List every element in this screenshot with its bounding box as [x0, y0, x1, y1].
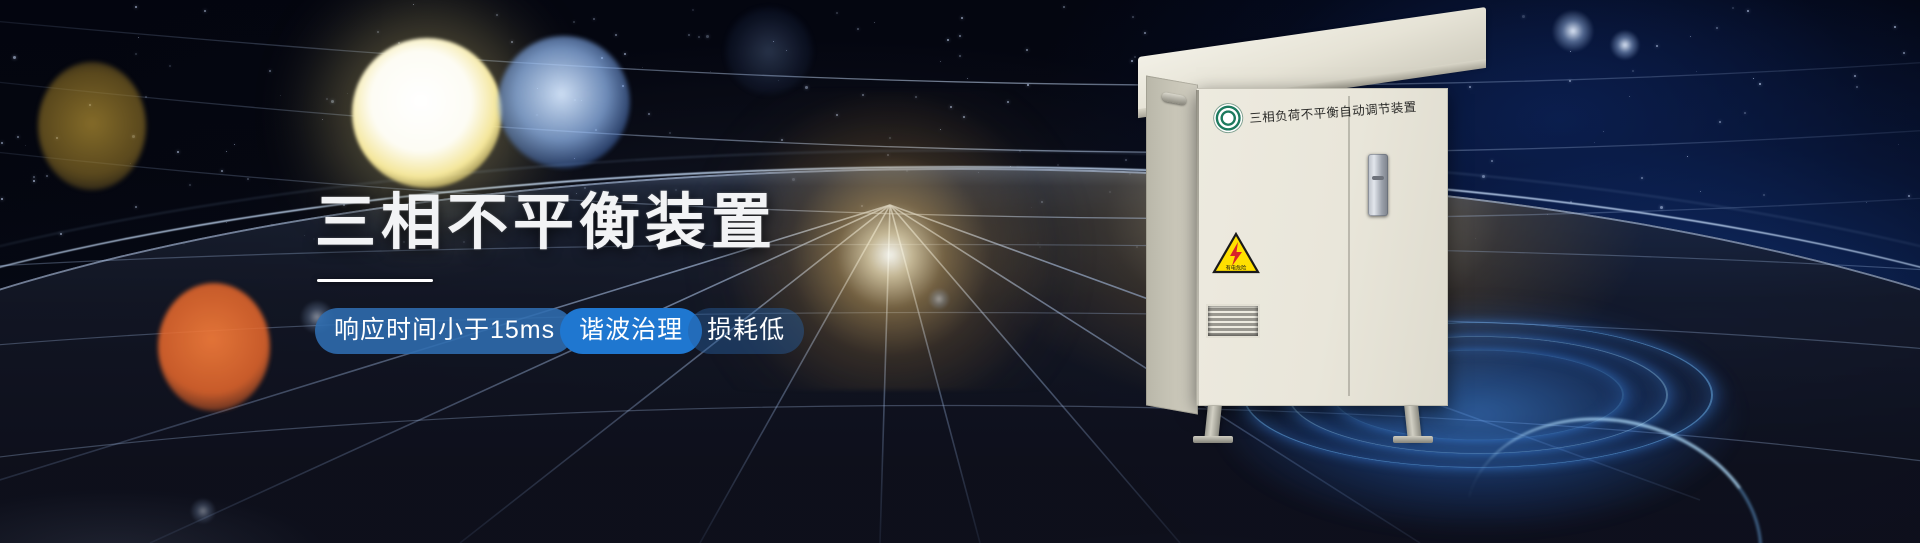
feature-tag-response-time[interactable]: 响应时间小于15ms — [315, 308, 574, 354]
cabinet-foot-left — [1193, 436, 1233, 443]
three-phase-balancing-cabinet: 三相负荷不平衡自动调节装置 有电危险 — [1160, 36, 1460, 406]
door-lock-handle-icon — [1368, 154, 1388, 216]
feature-tag-low-loss[interactable]: 损耗低 — [688, 308, 804, 354]
sparkle-flare — [190, 498, 216, 524]
cabinet-foot-right — [1393, 436, 1433, 443]
banner-copy-block: 三相不平衡装置 响应时间小于15ms 谐波治理 损耗低 — [315, 190, 955, 354]
bokeh-orb-blue — [498, 36, 630, 168]
glow-arc-highlight — [1441, 387, 1788, 543]
cabinet-corner-seam — [1196, 90, 1199, 406]
svg-text:有电危险: 有电危险 — [1226, 264, 1248, 272]
banner-headline: 三相不平衡装置 — [315, 190, 955, 255]
cabinet-leg-right — [1404, 406, 1422, 440]
bokeh-orb-white — [352, 38, 502, 188]
product-showcase: 三相负荷不平衡自动调节装置 有电危险 — [1050, 0, 1780, 543]
bokeh-orb-gold — [38, 62, 146, 190]
feature-tag-harmonic-treatment[interactable]: 谐波治理 — [560, 308, 702, 354]
cabinet-door-seam — [1348, 96, 1350, 396]
bokeh-orb-dim — [726, 8, 812, 94]
bokeh-orb-orange — [158, 283, 270, 411]
feature-tag-list: 响应时间小于15ms 谐波治理 损耗低 — [315, 308, 955, 354]
promo-banner: 三相不平衡装置 响应时间小于15ms 谐波治理 损耗低 — [0, 0, 1920, 543]
cabinet-leg-left — [1204, 406, 1222, 440]
three-ring-green-logo-icon — [1213, 103, 1243, 133]
ventilation-grille-icon — [1206, 304, 1260, 338]
high-voltage-warning-icon: 有电危险 — [1212, 232, 1260, 274]
headline-divider — [317, 279, 433, 282]
cabinet-side-panel — [1146, 75, 1198, 414]
